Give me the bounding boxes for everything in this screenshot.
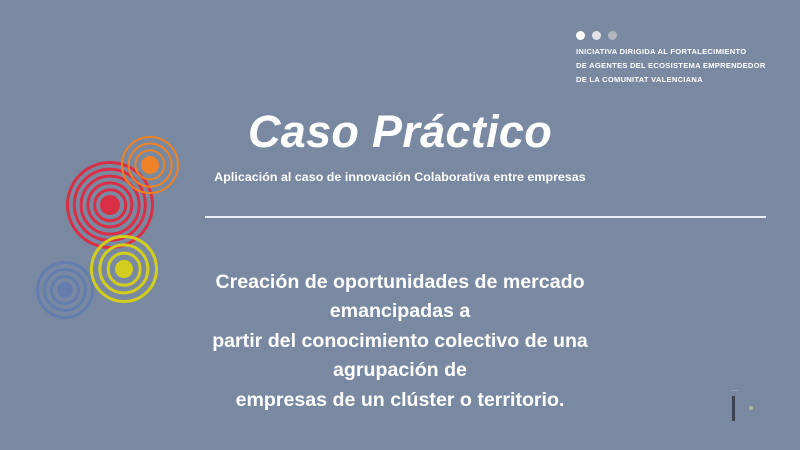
attribution-line-2: DE AGENTES DEL ECOSISTEMA EMPRENDEDOR: [576, 59, 791, 73]
body-paragraph: Creación de oportunidades de mercado ema…: [176, 268, 624, 415]
slide-canvas: INICIATIVA DIRIGIDA AL FORTALECIMIENTO D…: [0, 0, 800, 450]
attribution-text: INICIATIVA DIRIGIDA AL FORTALECIMIENTO D…: [576, 45, 791, 87]
dot-white-icon: [576, 31, 585, 40]
corner-tick-mark: [731, 390, 738, 391]
page-title: Caso Práctico: [0, 108, 800, 157]
header-dots: [576, 31, 791, 40]
attribution-line-3: DE LA COMUNITAT VALENCIANA: [576, 73, 791, 87]
page-subtitle: Aplicación al caso de innovación Colabor…: [0, 170, 800, 184]
attribution-line-1: INICIATIVA DIRIGIDA AL FORTALECIMIENTO: [576, 45, 791, 59]
corner-bar-mark: [732, 396, 735, 421]
divider: [205, 216, 766, 218]
body-line-2: partir del conocimiento colectivo de una…: [176, 327, 624, 386]
corner-dot-mark: [749, 406, 753, 410]
title-group: Caso Práctico Aplicación al caso de inno…: [0, 108, 800, 184]
body-line-1: Creación de oportunidades de mercado ema…: [176, 268, 624, 327]
blue-rings: [36, 261, 94, 319]
yellow-rings: [90, 235, 158, 303]
dot-light-gray-icon: [592, 31, 601, 40]
program-attribution-block: INICIATIVA DIRIGIDA AL FORTALECIMIENTO D…: [576, 31, 791, 87]
body-line-3: empresas de un clúster o territorio.: [176, 386, 624, 415]
dot-gray-icon: [608, 31, 617, 40]
